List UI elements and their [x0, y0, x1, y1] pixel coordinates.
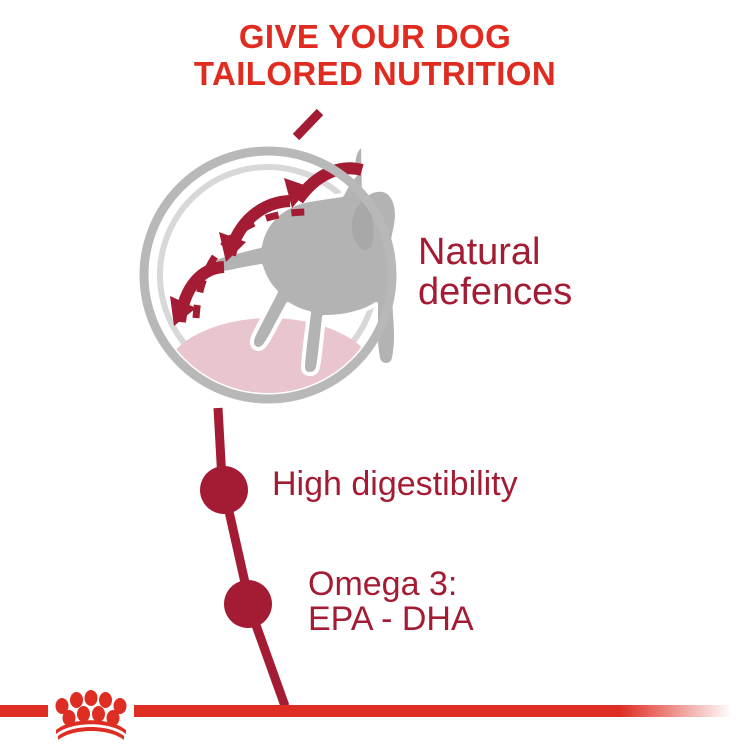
feature-digest-line-1: High digestibility [272, 465, 518, 503]
page-title: GIVE YOUR DOG TAILORED NUTRITION [0, 18, 750, 93]
headline-line-1: GIVE YOUR DOG [239, 18, 511, 55]
headline-line-2: TAILORED NUTRITION [0, 55, 750, 92]
feature-omega-line-1: Omega 3: [308, 565, 457, 603]
connector-node-1 [200, 466, 248, 514]
feature-label-natural-defences: Natural defences [418, 233, 572, 312]
connector-node-2 [224, 580, 272, 628]
connector-segment-2 [226, 498, 248, 596]
poster-canvas: GIVE YOUR DOG TAILORED NUTRITION [0, 0, 750, 750]
feature-natural-line-2: defences [418, 273, 572, 313]
feature-label-high-digestibility: High digestibility [272, 467, 518, 502]
natural-defences-dog-circle-icon [118, 100, 418, 430]
footer [0, 690, 750, 750]
feature-natural-line-1: Natural [418, 231, 541, 273]
royal-canin-crown-logo [56, 690, 127, 740]
feature-label-omega-3: Omega 3: EPA - DHA [308, 567, 474, 638]
footer-red-bar [134, 705, 750, 717]
feature-omega-line-2: EPA - DHA [308, 602, 474, 637]
footer-red-bar-left [0, 705, 48, 717]
